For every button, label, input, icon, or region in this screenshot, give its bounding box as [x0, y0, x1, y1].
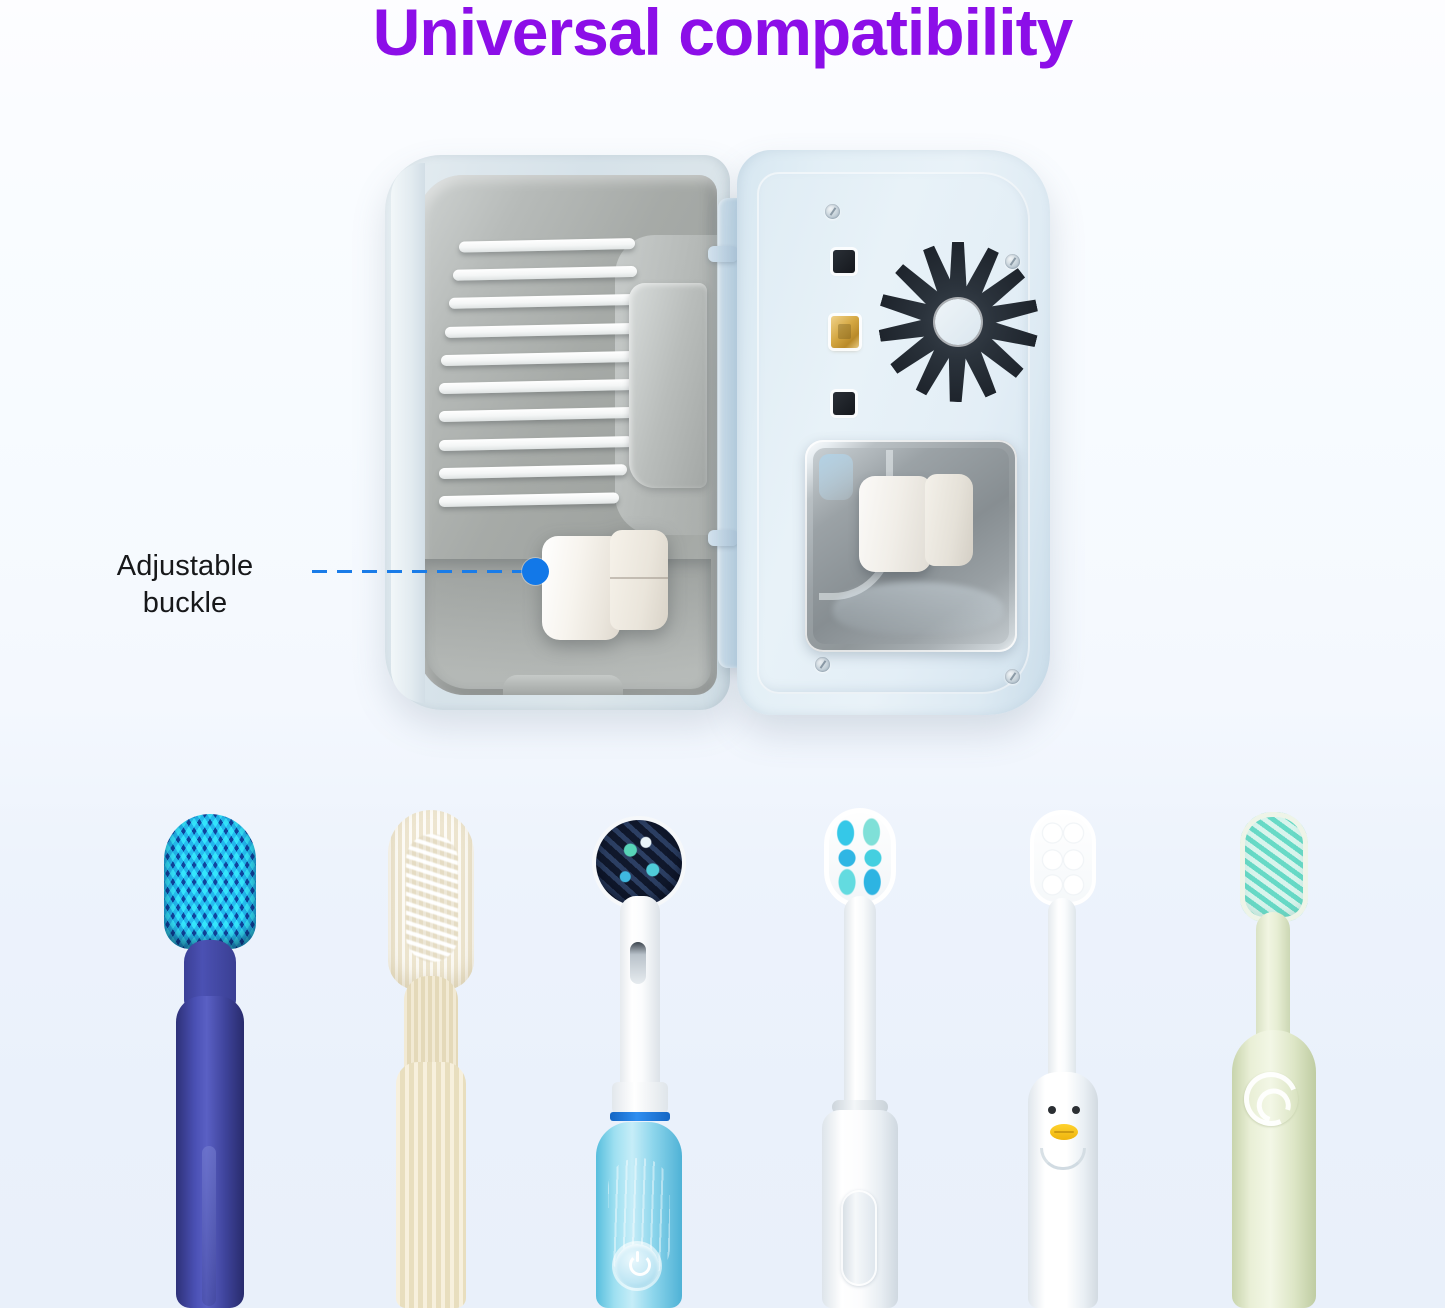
hinge-tab	[708, 530, 738, 546]
brush-head	[596, 820, 682, 906]
page-title: Universal compatibility	[0, 0, 1445, 67]
mirror-shine	[833, 582, 1003, 634]
buckle-rear-block	[610, 530, 668, 630]
hinge-tab	[708, 246, 738, 262]
base-inner-face	[757, 172, 1030, 694]
duck-beak-icon	[1050, 1124, 1078, 1140]
screw-icon	[815, 657, 830, 672]
slat	[439, 379, 639, 394]
callout-leader-line	[312, 570, 538, 573]
screw-icon	[1005, 669, 1020, 684]
led-strip	[829, 250, 863, 415]
lid-notch	[503, 675, 623, 695]
brush-handle	[176, 996, 244, 1308]
brush-head	[1240, 812, 1308, 922]
brush-head	[164, 814, 256, 949]
sonic-electric-toothbrush	[800, 800, 918, 1308]
brush-neck	[1048, 898, 1076, 1088]
duck-eye-icon	[1048, 1106, 1056, 1114]
brush-handle	[1028, 1072, 1098, 1308]
slat	[439, 436, 633, 451]
mirror-panel	[805, 440, 1017, 652]
power-button-icon[interactable]	[615, 1244, 659, 1288]
slat	[453, 266, 637, 281]
brush-neck	[620, 896, 660, 1096]
fan-vent	[884, 234, 1032, 409]
leader-dot-icon	[522, 558, 549, 585]
duck-eye-icon	[1072, 1106, 1080, 1114]
fan-hub	[935, 299, 981, 345]
green-swirl-toothbrush	[1218, 800, 1330, 1308]
rotating-electric-toothbrush	[572, 800, 702, 1308]
callout-label: Adjustable buckle	[60, 548, 310, 622]
lid-interior	[417, 175, 717, 695]
sensor-led-icon	[833, 392, 855, 415]
slat	[441, 351, 639, 366]
buckle-reflection-rear	[925, 474, 973, 566]
uv-led-icon	[831, 316, 859, 348]
slat	[459, 238, 635, 253]
brush-neck	[844, 896, 876, 1116]
brush-head	[824, 808, 896, 908]
manual-navy-toothbrush	[150, 800, 270, 1308]
brush-blue-ring	[610, 1112, 670, 1121]
ventilation-slats	[439, 238, 639, 507]
brush-head	[388, 810, 474, 990]
buckle-front-block	[542, 536, 620, 640]
slat	[445, 323, 639, 338]
product-feature-image: Universal compatibility	[0, 0, 1445, 1308]
brush-indicator	[630, 942, 646, 984]
sensor-led-icon	[833, 250, 855, 273]
callout-label-line1: Adjustable	[60, 548, 310, 585]
slat	[449, 294, 639, 309]
power-button-icon[interactable]	[841, 1190, 877, 1286]
kids-duck-toothbrush	[1008, 800, 1118, 1308]
adjustable-buckle[interactable]	[542, 530, 667, 640]
uv-sanitizer-case	[385, 150, 1050, 715]
screw-icon	[825, 204, 840, 219]
slat	[439, 492, 619, 507]
case-base	[737, 150, 1050, 715]
mirror-glass	[813, 448, 1009, 644]
slat	[439, 464, 627, 479]
brush-handle	[396, 1062, 466, 1308]
bamboo-toothbrush	[372, 800, 490, 1308]
toothbrush-lineup	[0, 800, 1445, 1308]
case-lid	[385, 155, 730, 710]
buckle-reflection-front	[859, 476, 931, 572]
callout-label-line2: buckle	[60, 585, 310, 622]
slat	[439, 407, 637, 422]
brush-head	[1030, 810, 1096, 906]
lid-ledge	[629, 283, 707, 488]
brush-collar	[612, 1082, 668, 1114]
